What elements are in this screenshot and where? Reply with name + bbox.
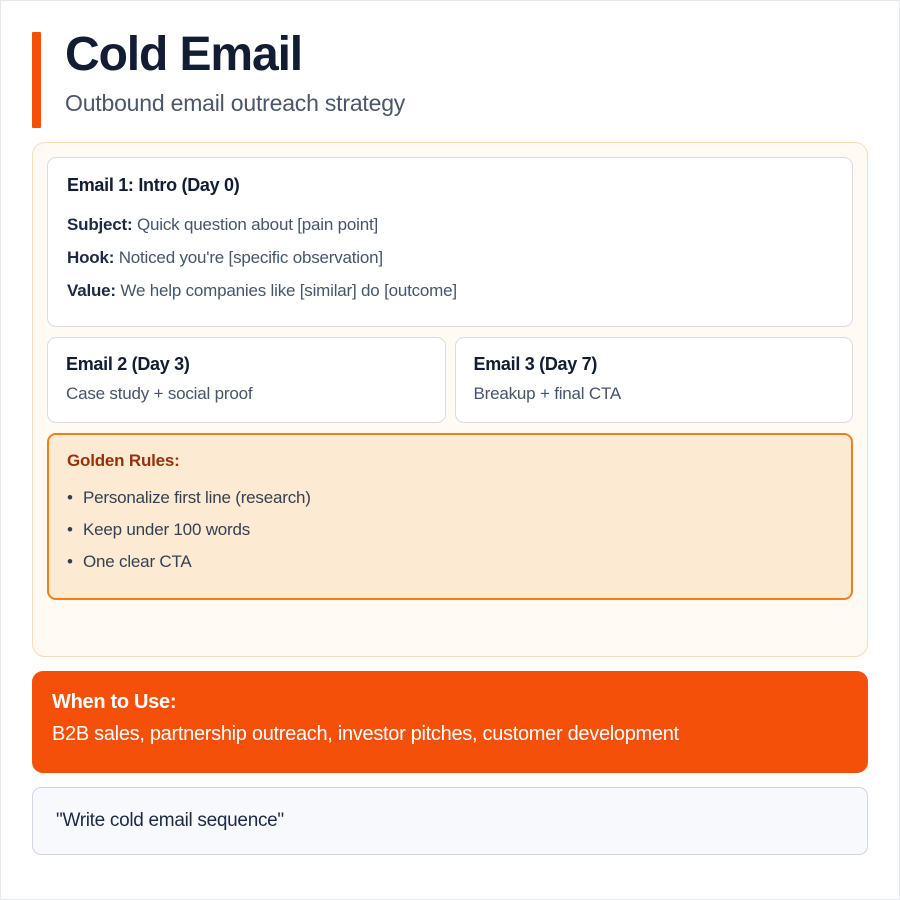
email-3-title: Email 3 (Day 7) xyxy=(474,354,835,375)
list-item: Keep under 100 words xyxy=(67,514,833,546)
when-to-use-banner: When to Use: B2B sales, partnership outr… xyxy=(32,671,868,773)
email-2-title: Email 2 (Day 3) xyxy=(66,354,427,375)
page-root: Cold Email Outbound email outreach strat… xyxy=(0,0,900,900)
email-sequence-panel: Email 1: Intro (Day 0) Subject: Quick qu… xyxy=(32,142,868,657)
golden-rules-box: Golden Rules: Personalize first line (re… xyxy=(47,433,853,599)
page-subtitle: Outbound email outreach strategy xyxy=(65,88,868,119)
when-to-use-title: When to Use: xyxy=(52,691,848,714)
field-label-hook: Hook: xyxy=(67,248,114,267)
followup-cards-row: Email 2 (Day 3) Case study + social proo… xyxy=(47,337,853,423)
golden-rules-list: Personalize first line (research) Keep u… xyxy=(67,482,833,577)
list-item: One clear CTA xyxy=(67,546,833,578)
field-label-value: Value: xyxy=(67,281,116,300)
email-1-card[interactable]: Email 1: Intro (Day 0) Subject: Quick qu… xyxy=(47,157,853,327)
email-2-description: Case study + social proof xyxy=(66,384,427,404)
field-value-value: We help companies like [similar] do [out… xyxy=(120,281,457,300)
email-1-field-subject: Subject: Quick question about [pain poin… xyxy=(67,208,833,241)
prompt-box[interactable]: "Write cold email sequence" xyxy=(32,787,868,855)
page-title: Cold Email xyxy=(65,29,868,82)
accent-bar xyxy=(32,32,41,128)
golden-rules-title: Golden Rules: xyxy=(67,451,833,471)
prompt-text: "Write cold email sequence" xyxy=(56,810,845,832)
page-header: Cold Email Outbound email outreach strat… xyxy=(32,29,868,119)
email-1-title: Email 1: Intro (Day 0) xyxy=(67,175,833,196)
email-1-field-value: Value: We help companies like [similar] … xyxy=(67,274,833,307)
when-to-use-text: B2B sales, partnership outreach, investo… xyxy=(52,720,848,749)
email-2-card[interactable]: Email 2 (Day 3) Case study + social proo… xyxy=(47,337,446,423)
field-label-subject: Subject: xyxy=(67,215,132,234)
field-value-hook: Noticed you're [specific observation] xyxy=(119,248,383,267)
email-3-card[interactable]: Email 3 (Day 7) Breakup + final CTA xyxy=(455,337,854,423)
email-3-description: Breakup + final CTA xyxy=(474,384,835,404)
field-value-subject: Quick question about [pain point] xyxy=(137,215,378,234)
list-item: Personalize first line (research) xyxy=(67,482,833,514)
email-1-field-hook: Hook: Noticed you're [specific observati… xyxy=(67,241,833,274)
